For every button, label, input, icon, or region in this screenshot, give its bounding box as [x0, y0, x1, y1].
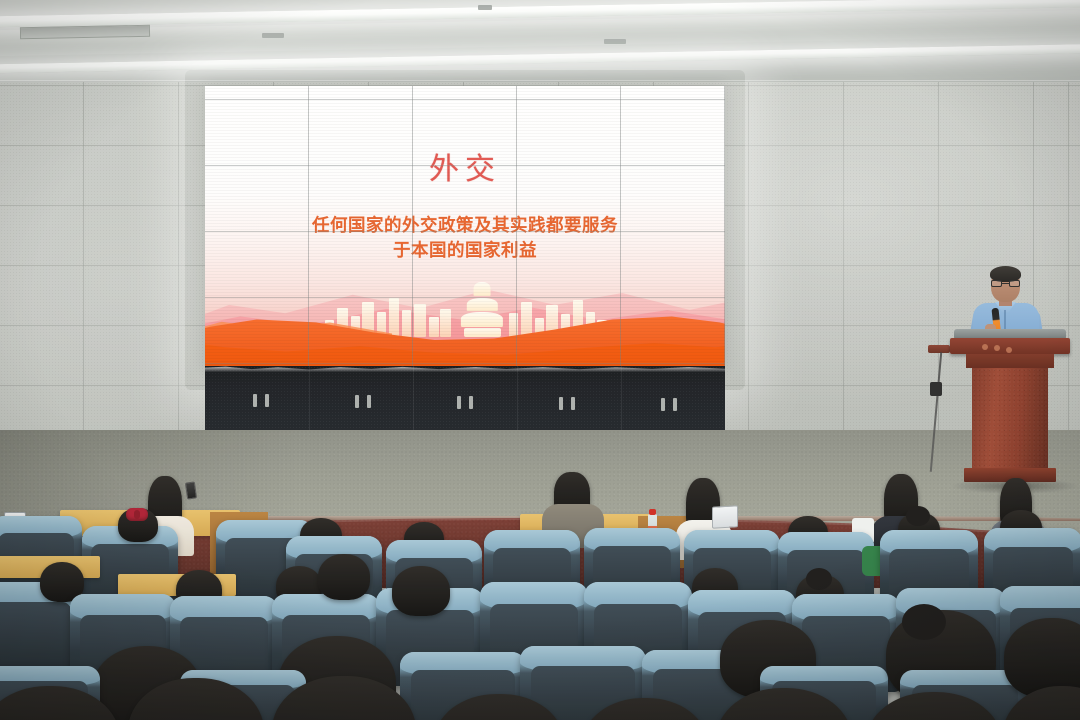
hair-bun	[902, 604, 946, 640]
stage-cabinet[interactable]	[205, 366, 725, 432]
led-video-wall[interactable]: 外交 任何国家的外交政策及其实践都要服务 于本国的国家利益	[205, 86, 725, 368]
glasses-icon	[991, 280, 1020, 287]
cabinet-handle[interactable]	[559, 397, 563, 410]
hair-bun	[906, 506, 930, 526]
cabinet-handle[interactable]	[661, 398, 665, 411]
cabinet-handle[interactable]	[457, 396, 461, 409]
audience-area	[0, 470, 1080, 720]
podium-control-button[interactable]	[1006, 347, 1012, 353]
cabinet-texture	[205, 366, 725, 432]
hair-bow	[126, 508, 148, 521]
mic-receiver-box	[930, 382, 942, 396]
ceiling-edge-line	[0, 80, 1080, 81]
podium	[962, 338, 1058, 488]
cabinet-handle[interactable]	[367, 395, 371, 408]
ceiling-fixture-dot	[604, 39, 626, 44]
cabinet-handle[interactable]	[355, 395, 359, 408]
laptop-icon	[712, 505, 738, 528]
cabinet-handle[interactable]	[265, 394, 269, 407]
podium-control-button[interactable]	[982, 344, 988, 350]
hair-bun	[806, 568, 832, 590]
audience-head	[318, 554, 370, 600]
mic-stand	[928, 345, 950, 353]
podium-neck	[966, 354, 1054, 368]
podium-control-button[interactable]	[994, 345, 1000, 351]
ceiling-vent-left	[20, 25, 150, 39]
audience-head	[392, 566, 450, 616]
cabinet-handle[interactable]	[469, 396, 473, 409]
ceiling-fixture-dot	[478, 5, 492, 10]
smartphone-icon	[185, 481, 197, 499]
cabinet-handle[interactable]	[673, 398, 677, 411]
podium-texture	[972, 368, 1048, 468]
led-scanlines	[205, 86, 725, 368]
podium-top	[950, 338, 1070, 354]
ceiling	[0, 0, 1080, 86]
cabinet-handle[interactable]	[571, 397, 575, 410]
lecture-hall-photo: 外交 任何国家的外交政策及其实践都要服务 于本国的国家利益	[0, 0, 1080, 720]
ceiling-fixture-dot	[262, 33, 284, 38]
cabinet-handle[interactable]	[253, 394, 257, 407]
podium-body	[972, 368, 1048, 468]
